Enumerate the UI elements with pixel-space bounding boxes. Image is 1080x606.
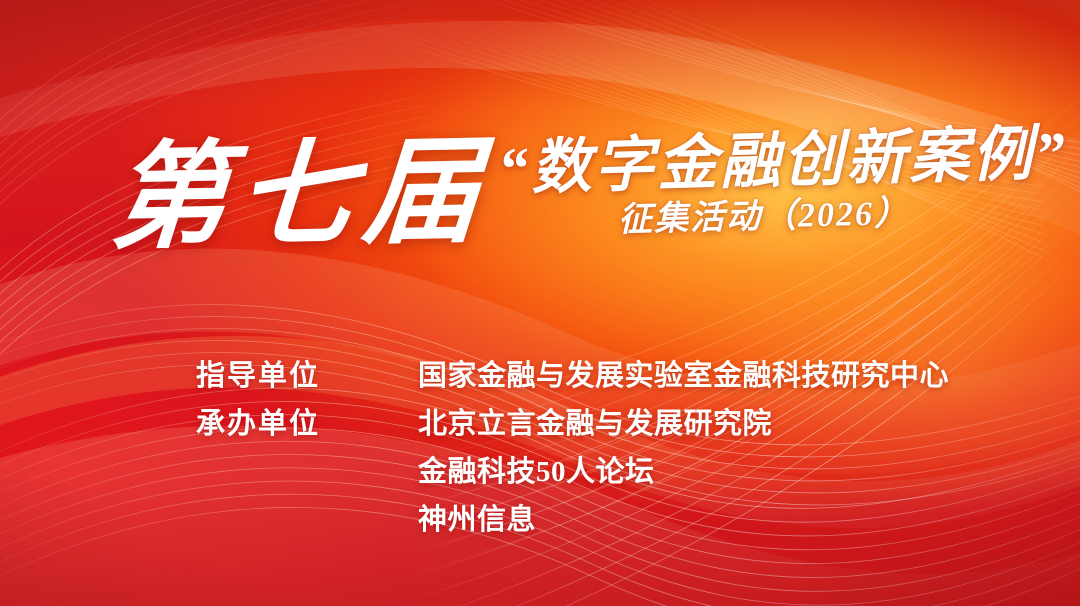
headline-edition: 第七届 — [106, 97, 496, 272]
org-label-host: 承办单位 — [196, 406, 418, 539]
org-label-guidance: 指导单位 — [196, 358, 418, 395]
poster-canvas: 第七届 “数字金融创新案例” 征集活动（2026） 指导单位 国家金融与发展实验… — [0, 0, 1080, 606]
organizations-block: 指导单位 国家金融与发展实验室金融科技研究中心 承办单位 北京立言金融与发展研究… — [196, 358, 949, 539]
headline-subtitle: 征集活动（2026） — [617, 185, 910, 241]
org-value-item: 神州信息 — [418, 502, 949, 539]
org-values-guidance: 国家金融与发展实验室金融科技研究中心 — [418, 358, 949, 395]
org-value-item: 北京立言金融与发展研究院 — [418, 406, 949, 443]
org-values-host: 北京立言金融与发展研究院 金融科技50人论坛 神州信息 — [418, 406, 949, 539]
quote-close-mark: ” — [1034, 120, 1069, 187]
org-value-item: 金融科技50人论坛 — [418, 454, 949, 491]
quote-open-mark: “ — [497, 135, 532, 202]
org-value-item: 国家金融与发展实验室金融科技研究中心 — [418, 358, 949, 395]
text-layer: 第七届 “数字金融创新案例” 征集活动（2026） 指导单位 国家金融与发展实验… — [0, 0, 1080, 606]
